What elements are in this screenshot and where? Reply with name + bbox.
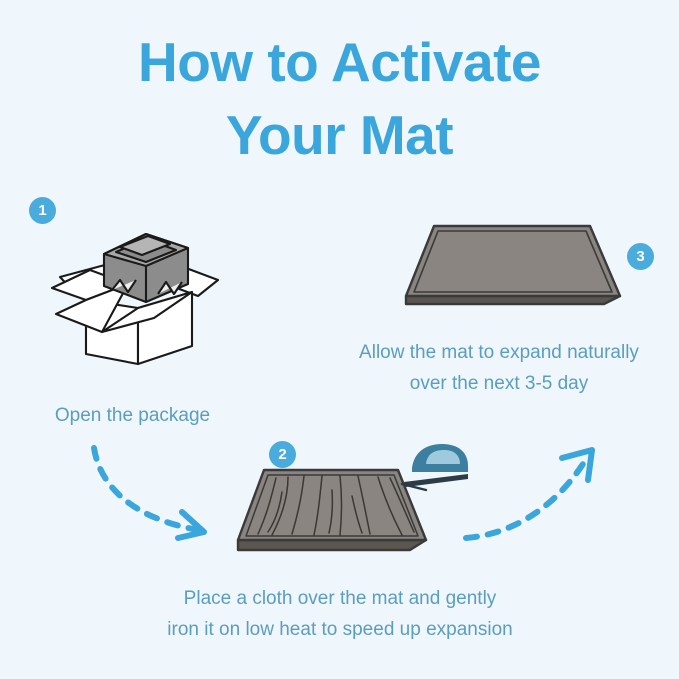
- step-badge-2: 2: [269, 441, 296, 468]
- step-2-caption: Place a cloth over the mat and gently ir…: [105, 583, 575, 646]
- page-title: How to Activate Your Mat: [0, 26, 679, 171]
- caption-line: iron it on low heat to speed up expansio…: [105, 614, 575, 645]
- caption-line: Place a cloth over the mat and gently: [105, 583, 575, 614]
- step-badge-3: 3: [627, 243, 654, 270]
- caption-line: Open the package: [10, 400, 255, 431]
- step-1-caption: Open the package: [10, 400, 255, 431]
- title-line-1: How to Activate: [0, 26, 679, 99]
- arrow-step1-to-step2-icon: [86, 442, 226, 547]
- arrow-step2-to-step3-icon: [462, 440, 602, 545]
- step-badge-1: 1: [29, 197, 56, 224]
- infographic-canvas: How to Activate Your Mat: [0, 0, 679, 679]
- caption-line: over the next 3-5 day: [318, 368, 679, 399]
- caption-line: Allow the mat to expand naturally: [318, 337, 679, 368]
- open-cardboard-box-with-rolled-mat-icon: [42, 214, 232, 364]
- flat-expanded-mat-icon: [398, 218, 628, 318]
- title-line-2: Your Mat: [0, 99, 679, 172]
- step-3-caption: Allow the mat to expand naturally over t…: [318, 337, 679, 400]
